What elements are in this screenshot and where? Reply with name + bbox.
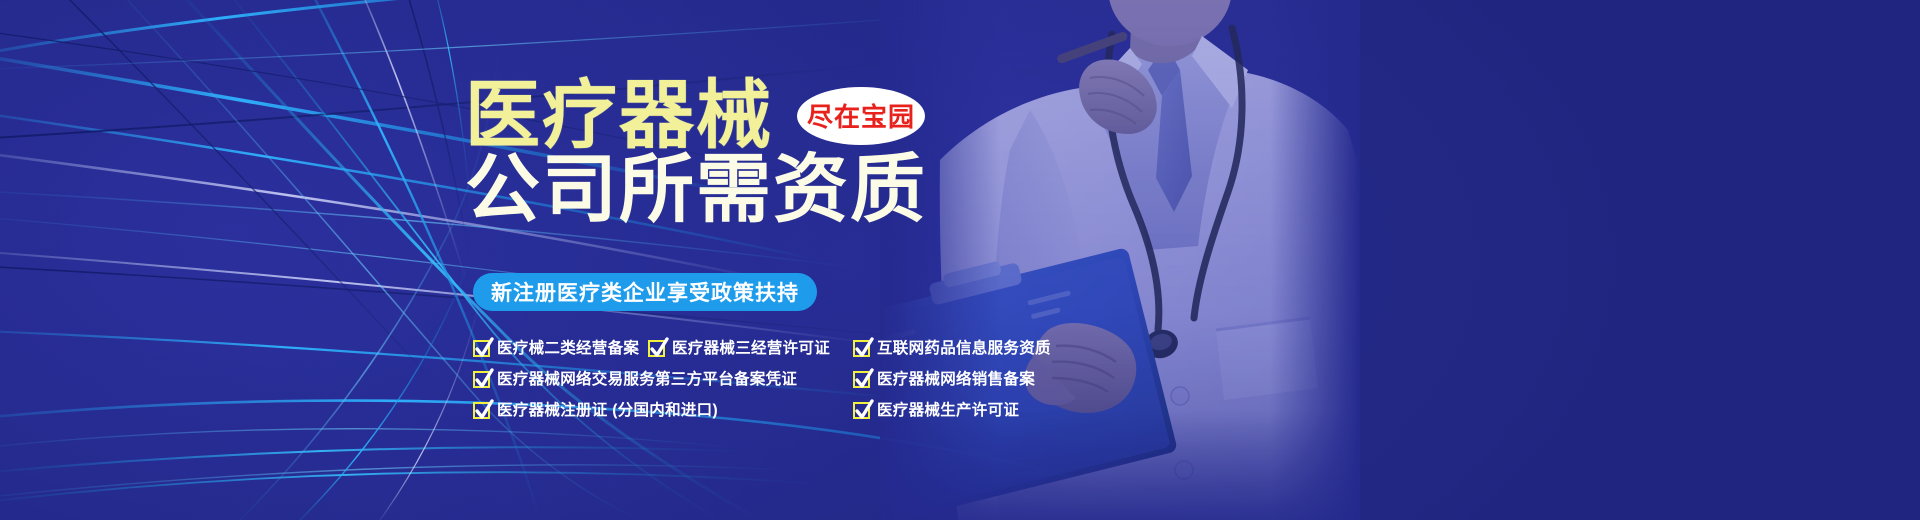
- checklist-item[interactable]: 医疗器械三经营许可证: [648, 340, 853, 357]
- policy-pill-button[interactable]: 新注册医疗类企业享受政策扶持: [473, 273, 817, 311]
- headline-line-2: 公司所需资质: [465, 152, 927, 227]
- checklist-row: 医疗器械网络交易服务第三方平台备案凭证 医疗器械网络销售备案: [473, 371, 1173, 398]
- checklist-left-column: 医疗器械注册证 (分国内和进口): [473, 402, 853, 419]
- checkmark-icon: [853, 402, 870, 419]
- checklist-item[interactable]: 医疗器械网络交易服务第三方平台备案凭证: [473, 371, 853, 388]
- headline-line-1: 医疗器械: [465, 78, 773, 153]
- qualification-checklist: 医疗械二类经营备案 医疗器械三经营许可证: [473, 340, 1173, 433]
- checkmark-icon: [648, 340, 665, 357]
- checkmark-icon: [473, 402, 490, 419]
- checklist-right-column: 互联网药品信息服务资质: [853, 340, 1153, 357]
- banner-content: 医疗器械 尽在宝园 公司所需资质 新注册医疗类企业享受政策扶持: [465, 0, 1225, 520]
- checkmark-icon: [473, 340, 490, 357]
- checklist-left-column: 医疗器械网络交易服务第三方平台备案凭证: [473, 371, 853, 388]
- checklist-item-label: 医疗器械网络销售备案: [877, 372, 1035, 388]
- checklist-right-column: 医疗器械生产许可证: [853, 402, 1153, 419]
- checklist-item-label: 互联网药品信息服务资质: [877, 341, 1051, 357]
- checklist-left-column: 医疗械二类经营备案 医疗器械三经营许可证: [473, 340, 853, 357]
- checklist-item-label: 医疗器械注册证 (分国内和进口): [497, 403, 718, 419]
- checklist-row: 医疗械二类经营备案 医疗器械三经营许可证: [473, 340, 1173, 367]
- checklist-item-label: 医疗械二类经营备案: [497, 341, 639, 357]
- checklist-row: 医疗器械注册证 (分国内和进口) 医疗器械生产许可证: [473, 402, 1173, 429]
- headline-primary-row: 医疗器械 尽在宝园: [465, 78, 925, 153]
- checklist-item[interactable]: 医疗器械注册证 (分国内和进口): [473, 402, 853, 419]
- checklist-item-label: 医疗器械三经营许可证: [672, 341, 830, 357]
- policy-pill-label: 新注册医疗类企业享受政策扶持: [491, 277, 799, 307]
- checklist-item[interactable]: 医疗器械网络销售备案: [853, 371, 1153, 388]
- checklist-right-column: 医疗器械网络销售备案: [853, 371, 1153, 388]
- checklist-item[interactable]: 医疗器械生产许可证: [853, 402, 1153, 419]
- checklist-item-label: 医疗器械生产许可证: [877, 403, 1019, 419]
- promotional-banner: 医疗器械 尽在宝园 公司所需资质 新注册医疗类企业享受政策扶持: [0, 0, 1920, 520]
- checkmark-icon: [853, 371, 870, 388]
- brand-badge-label: 尽在宝园: [807, 97, 915, 134]
- checklist-item-label: 医疗器械网络交易服务第三方平台备案凭证: [497, 372, 797, 388]
- checklist-item[interactable]: 医疗械二类经营备案: [473, 340, 648, 357]
- checkmark-icon: [473, 371, 490, 388]
- checklist-item[interactable]: 互联网药品信息服务资质: [853, 340, 1153, 357]
- brand-badge: 尽在宝园: [797, 87, 925, 145]
- checkmark-icon: [853, 340, 870, 357]
